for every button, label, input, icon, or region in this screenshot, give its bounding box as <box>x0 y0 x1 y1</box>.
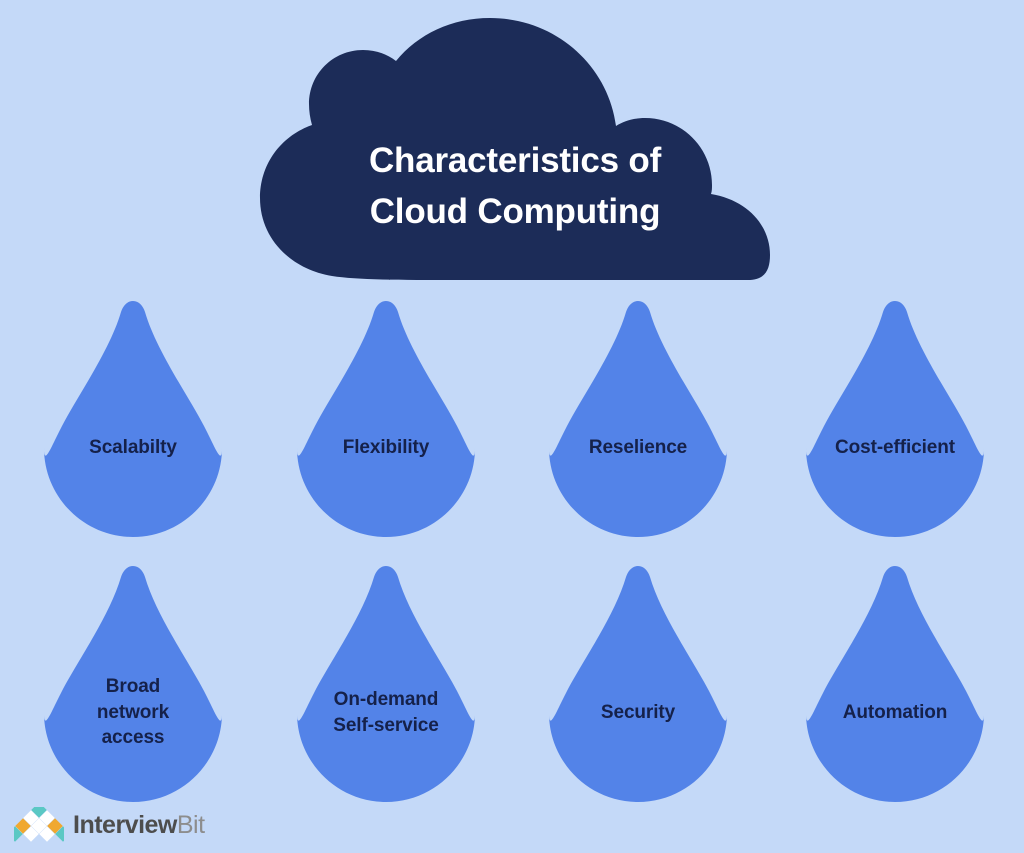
characteristic-drop-cost-efficient[interactable]: Cost-efficient <box>806 301 984 537</box>
logo-text-secondary: Bit <box>177 811 205 839</box>
logo-text-primary: Interview <box>73 811 177 839</box>
water-drop-icon <box>806 301 984 537</box>
water-drop-icon <box>549 566 727 802</box>
characteristics-grid: Scalabilty Flexibility Reselience <box>0 0 1024 853</box>
characteristic-drop-on-demand-self-service[interactable]: On-demand Self-service <box>297 566 475 802</box>
interviewbit-logo[interactable]: InterviewBit <box>14 805 205 845</box>
characteristic-drop-scalability[interactable]: Scalabilty <box>44 301 222 537</box>
characteristic-drop-flexibility[interactable]: Flexibility <box>297 301 475 537</box>
infographic-canvas: Characteristics of Cloud Computing Scala… <box>0 0 1024 853</box>
water-drop-icon <box>44 566 222 802</box>
water-drop-icon <box>806 566 984 802</box>
characteristic-drop-broad-network-access[interactable]: Broad network access <box>44 566 222 802</box>
water-drop-icon <box>297 301 475 537</box>
water-drop-icon <box>44 301 222 537</box>
interviewbit-wordmark: InterviewBit <box>73 813 205 838</box>
water-drop-icon <box>549 301 727 537</box>
characteristic-drop-security[interactable]: Security <box>549 566 727 802</box>
characteristic-drop-reselience[interactable]: Reselience <box>549 301 727 537</box>
interviewbit-logo-mark-icon <box>14 807 64 843</box>
characteristic-drop-automation[interactable]: Automation <box>806 566 984 802</box>
water-drop-icon <box>297 566 475 802</box>
